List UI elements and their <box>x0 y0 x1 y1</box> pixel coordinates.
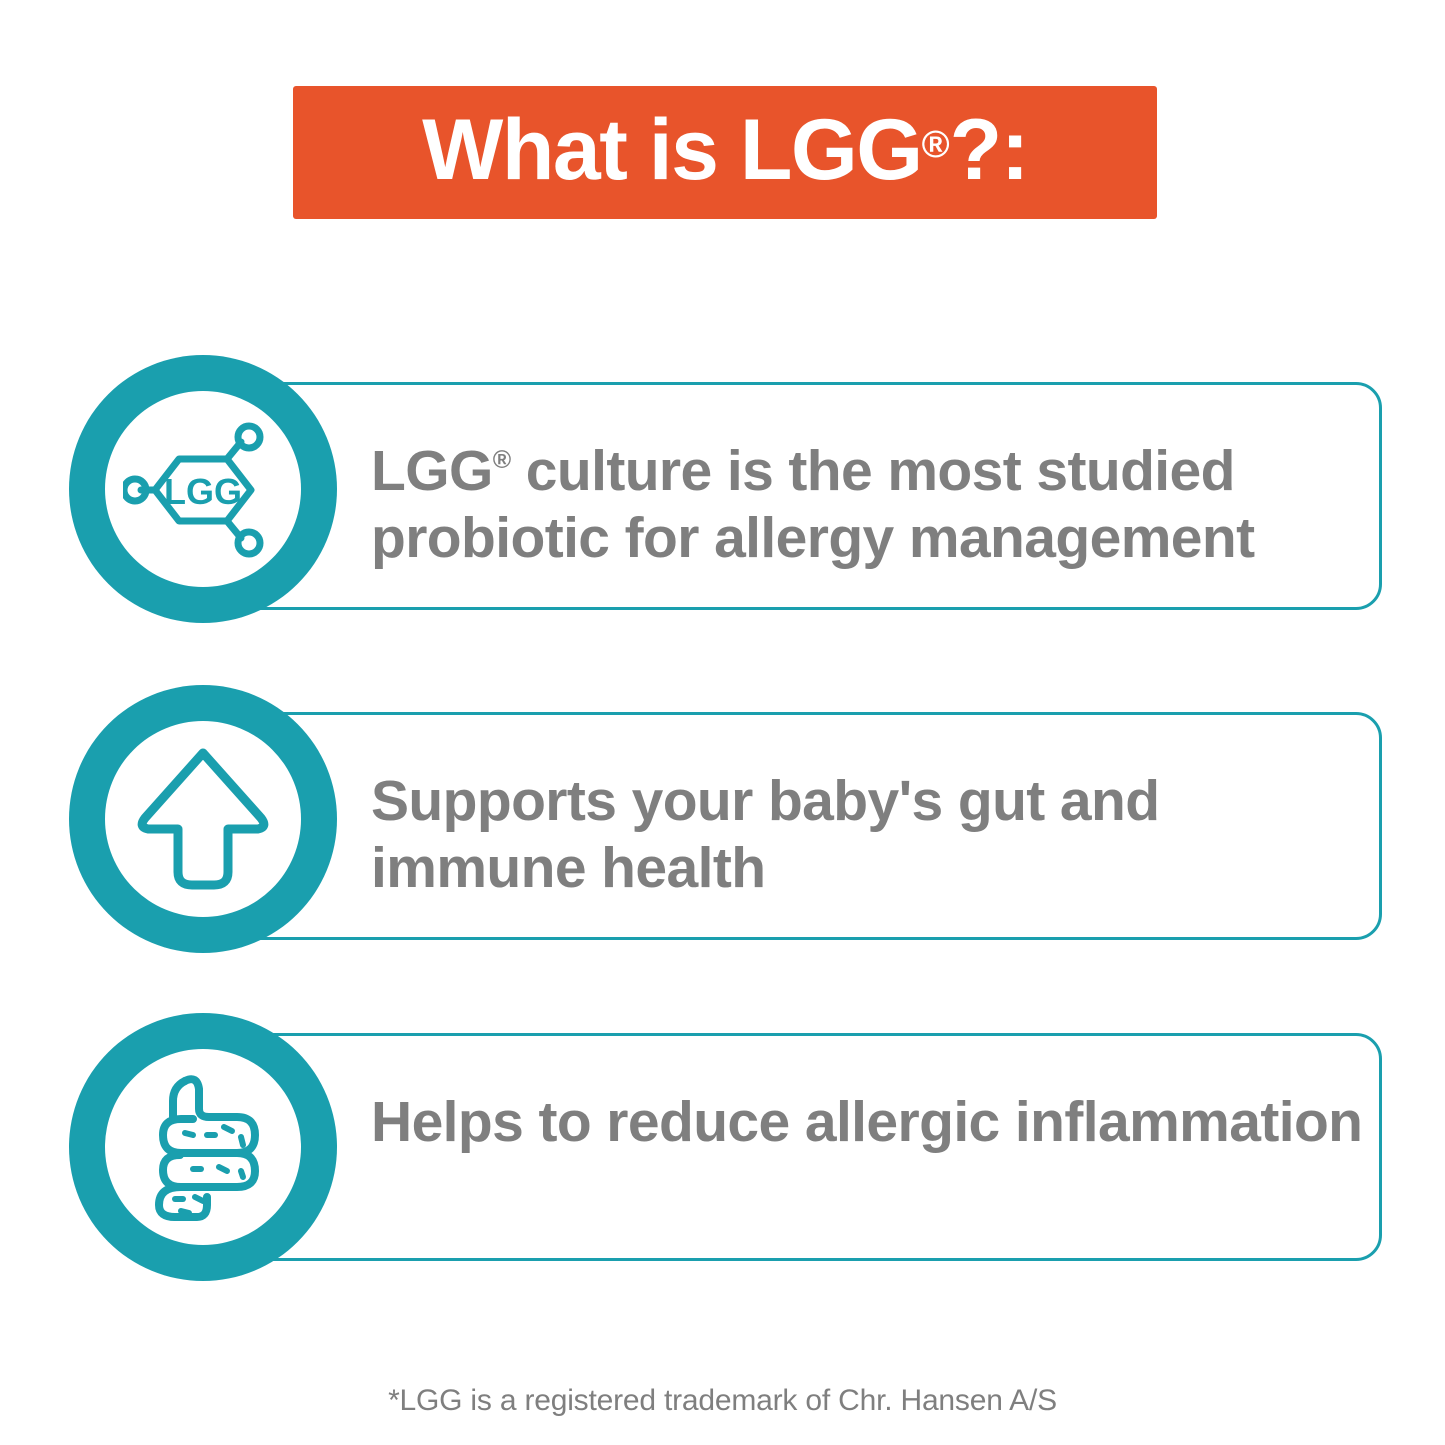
feature-icon-badge-2 <box>69 685 337 953</box>
feature-text-2-before: Supports your baby's gut and immune heal… <box>371 769 1159 900</box>
page-title-suffix: ?: <box>950 102 1028 198</box>
feature-card-1: LGG® culture is the most studied probiot… <box>196 382 1382 610</box>
feature-text-2: Supports your baby's gut and immune heal… <box>371 768 1381 903</box>
feature-icon-badge-3 <box>69 1013 337 1281</box>
page-title: What is LGG®?: <box>422 107 1028 193</box>
feature-card-2: Supports your baby's gut and immune heal… <box>196 712 1382 940</box>
lgg-molecule-icon: LGG <box>123 409 283 569</box>
badge-inner-2 <box>105 721 301 917</box>
page-title-main: What is LGG <box>422 102 922 198</box>
lgg-icon-label: LGG <box>164 471 242 512</box>
feature-icon-badge-1: LGG <box>69 355 337 623</box>
registered-mark: ® <box>493 446 511 474</box>
feature-text-1: LGG® culture is the most studied probiot… <box>371 438 1381 573</box>
badge-inner-3 <box>105 1049 301 1245</box>
feature-text-3: Helps to reduce allergic inflammation <box>371 1089 1381 1156</box>
footnote: *LGG is a registered trademark of Chr. H… <box>0 1384 1445 1418</box>
badge-inner-1: LGG <box>105 391 301 587</box>
feature-text-1-before: LGG <box>371 439 493 503</box>
up-arrow-icon <box>128 739 278 899</box>
feature-card-3: Helps to reduce allergic inflammation <box>196 1033 1382 1261</box>
feature-text-3-before: Helps to reduce allergic inflammation <box>371 1090 1362 1154</box>
intestine-icon <box>123 1065 283 1230</box>
header-banner: What is LGG®?: <box>293 86 1157 219</box>
registered-mark: ® <box>922 124 950 166</box>
